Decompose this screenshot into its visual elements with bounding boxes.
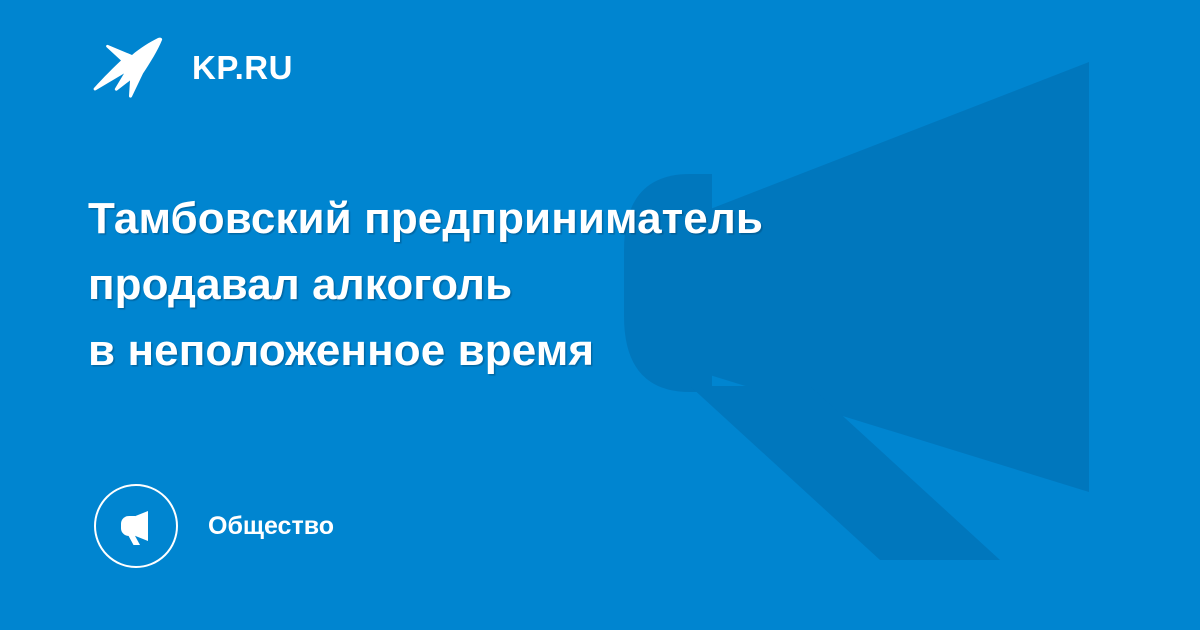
category-label: Общество xyxy=(208,514,334,539)
headline: Тамбовский предприниматель продавал алко… xyxy=(88,186,988,384)
category-icon-circle xyxy=(94,484,178,568)
brand-name-label: KP.RU xyxy=(192,51,293,84)
swallow-bird-icon xyxy=(88,36,166,98)
headline-line-1: Тамбовский предприниматель xyxy=(88,186,988,252)
headline-line-2: продавал алкоголь xyxy=(88,252,988,318)
megaphone-icon xyxy=(114,504,158,548)
category-badge[interactable]: Общество xyxy=(94,484,334,568)
megaphone-handle-shape xyxy=(690,386,1000,560)
article-share-card: KP.RU Тамбовский предприниматель продава… xyxy=(0,0,1200,630)
headline-line-3: в неположенное время xyxy=(88,318,988,384)
brand-logo[interactable]: KP.RU xyxy=(88,36,293,98)
